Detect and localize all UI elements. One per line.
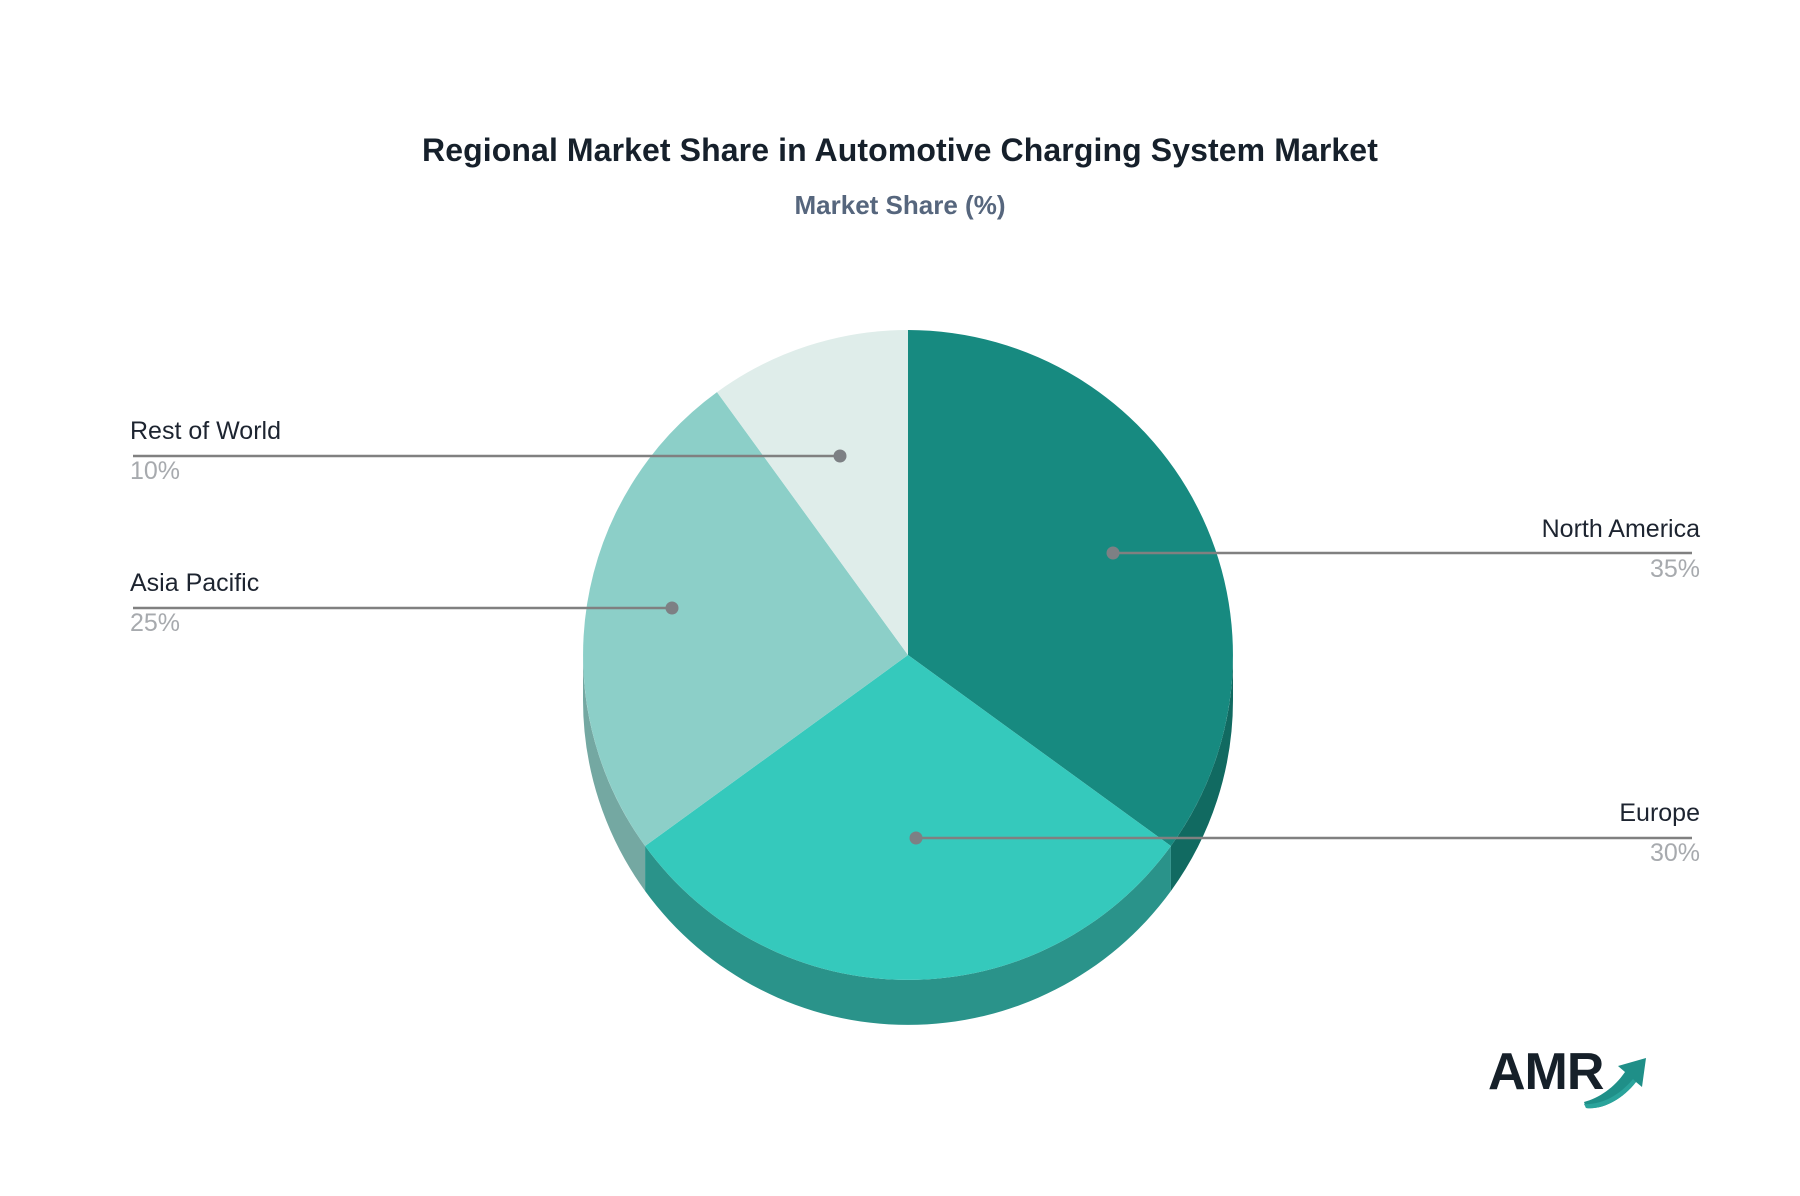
- callout-label-asia-pacific: Asia Pacific: [130, 570, 550, 596]
- callout-label-rest-of-world: Rest of World: [130, 418, 550, 444]
- callout-rest-of-world[interactable]: Rest of World 10%: [130, 418, 550, 485]
- anchor-dot-north-america: [1107, 547, 1120, 560]
- anchor-dot-asia-pacific: [666, 602, 679, 615]
- callout-label-europe: Europe: [1360, 800, 1700, 826]
- callout-asia-pacific[interactable]: Asia Pacific 25%: [130, 570, 550, 637]
- chart-canvas: Regional Market Share in Automotive Char…: [0, 0, 1800, 1196]
- callout-north-america[interactable]: North America 35%: [1360, 516, 1700, 583]
- callout-value-europe: 30%: [1360, 840, 1700, 866]
- anchor-dot-rest-of-world: [834, 450, 847, 463]
- pie-top-face: [583, 330, 1233, 980]
- amr-logo: AMR: [1488, 1040, 1668, 1118]
- growth-arrow-icon: [1584, 1048, 1670, 1114]
- callout-value-rest-of-world: 10%: [130, 458, 550, 484]
- callout-value-asia-pacific: 25%: [130, 610, 550, 636]
- callout-europe[interactable]: Europe 30%: [1360, 800, 1700, 867]
- callout-value-north-america: 35%: [1360, 556, 1700, 582]
- callout-label-north-america: North America: [1360, 516, 1700, 542]
- anchor-dot-europe: [910, 832, 923, 845]
